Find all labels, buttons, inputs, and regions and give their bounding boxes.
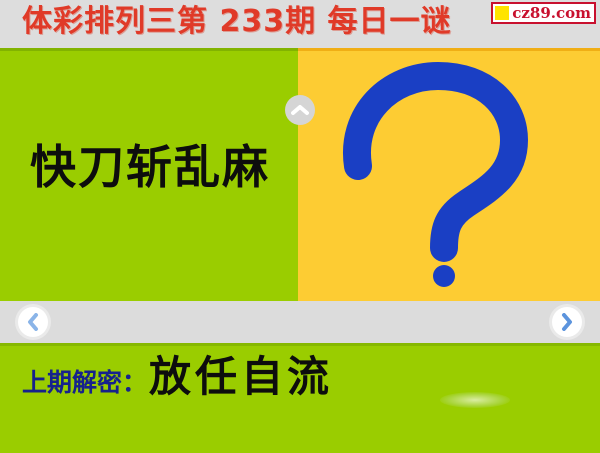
page-header: 体彩排列三第 233期 每日一谜 cz89.com [0, 0, 600, 48]
navigation-bar [0, 301, 600, 343]
question-mark-icon [298, 48, 600, 301]
previous-answer-row: 上期解密： 放任自流 [22, 354, 333, 406]
scroll-up-button[interactable] [285, 95, 315, 125]
faint-watermark-shape [440, 392, 510, 408]
previous-answer-panel: 上期解密： 放任自流 [0, 343, 600, 453]
riddle-panel-green: 快刀斩乱麻 （打一成语） [0, 48, 298, 304]
daily-riddle-page: 体彩排列三第 233期 每日一谜 cz89.com 快刀斩乱麻 （打一成语） [0, 0, 600, 450]
riddle-text: 快刀斩乱麻 [10, 139, 290, 195]
page-title: 体彩排列三第 233期 每日一谜 [22, 2, 452, 42]
previous-answer-value: 放任自流 [149, 354, 333, 400]
previous-button[interactable] [18, 307, 48, 337]
watermark-label: cz89.com [512, 5, 591, 21]
site-watermark: cz89.com [491, 2, 596, 24]
watermark-swatch-icon [495, 6, 509, 20]
next-button[interactable] [552, 307, 582, 337]
previous-answer-label: 上期解密： [22, 360, 147, 406]
riddle-stage: 快刀斩乱麻 （打一成语） [0, 48, 600, 301]
